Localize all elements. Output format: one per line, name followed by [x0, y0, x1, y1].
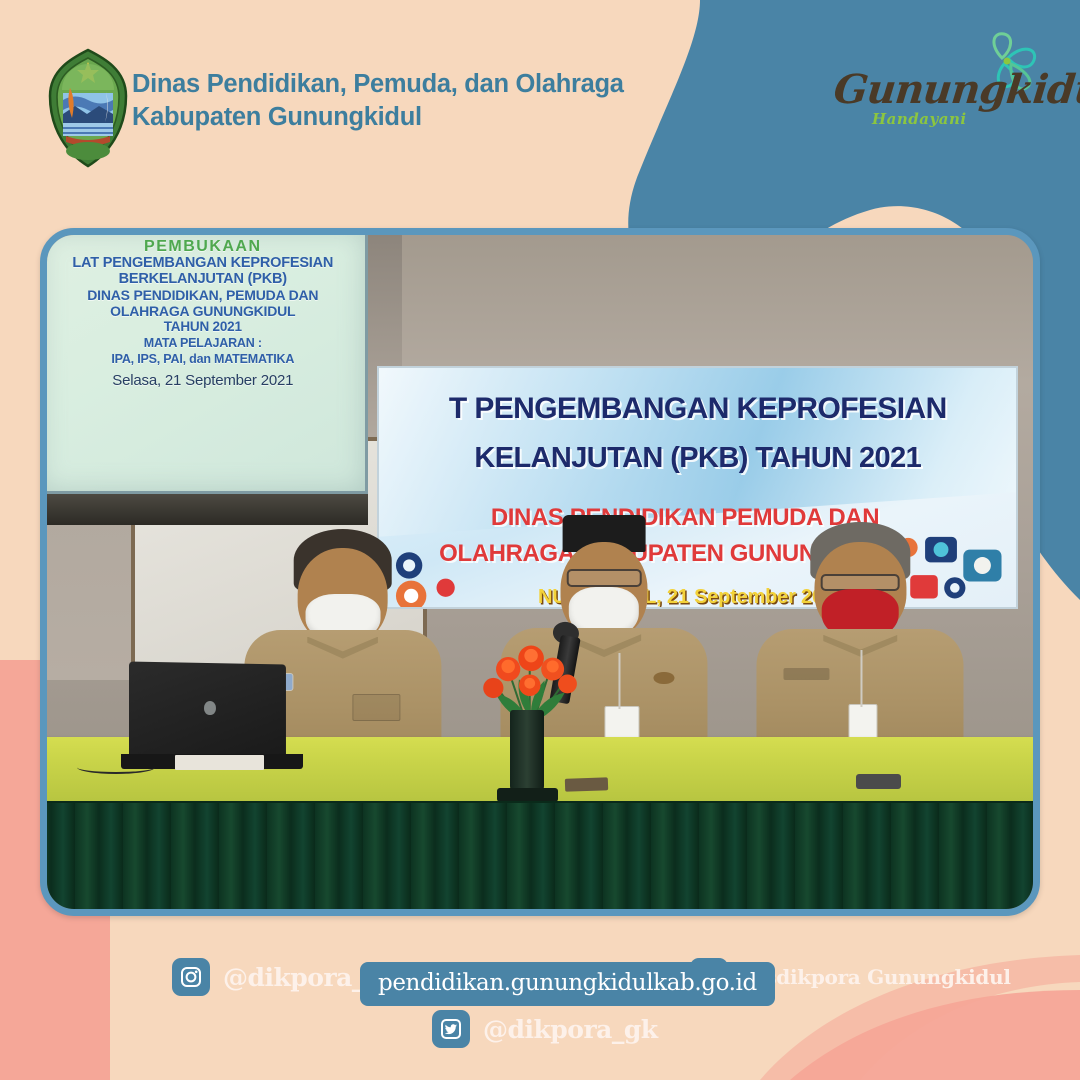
brand-tagline: Handayani	[872, 110, 967, 128]
banner-line-2: KELANJUTAN (PKB) TAHUN 2021	[377, 442, 1018, 475]
slide-line-4: DINAS PENDIDIKAN, PEMUDA DAN	[40, 287, 365, 303]
gunungkidul-regency-crest-icon	[46, 48, 130, 168]
slide-line-7: MATA PELAJARAN :	[40, 335, 365, 351]
projection-screen-base	[40, 494, 368, 524]
person-center-emblem	[654, 672, 675, 685]
poster-canvas: Dinas Pendidikan, Pemuda, dan Olahraga K…	[0, 0, 1080, 1080]
slide-line-6: TAHUN 2021	[40, 319, 365, 335]
poster-header: Dinas Pendidikan, Pemuda, dan Olahraga K…	[0, 0, 1080, 200]
person-left-pocket	[353, 694, 400, 721]
gunungkidul-brand-logo: Gunungkidul Handayani	[824, 28, 1054, 138]
laptop-logo-icon	[204, 701, 216, 715]
smartphone-center	[564, 777, 608, 791]
twitter-entry[interactable]: @dikpora_gk	[432, 1010, 658, 1048]
twitter-icon[interactable]	[432, 1010, 470, 1048]
person-right-id-card	[848, 704, 877, 740]
laptop-icon	[129, 661, 286, 758]
slide-line-8: IPA, IPS, PAI, dan MATEMATIKA	[40, 351, 365, 367]
website-url-badge[interactable]: pendidikan.gunungkidulkab.go.id	[360, 962, 775, 1006]
person-center-glasses	[567, 569, 642, 588]
page-title: Dinas Pendidikan, Pemuda, dan Olahraga K…	[132, 68, 624, 134]
projection-screen: PEMBUKAAN LAT PENGEMBANGAN KEPROFESIAN B…	[40, 228, 368, 494]
brand-wordmark: Gunungkidul	[832, 66, 1080, 113]
slide-line-9: Selasa, 21 September 2021	[40, 373, 365, 389]
instagram-icon[interactable]	[172, 958, 210, 996]
facebook-page-name: Disdikpora Gunungkidul	[741, 965, 1011, 989]
table-skirt	[40, 803, 1040, 914]
person-right-name-tag	[784, 668, 830, 680]
slide-line-3: BERKELANJUTAN (PKB)	[40, 271, 365, 287]
smartphone-right	[856, 774, 901, 789]
event-photo: PEMBUKAAN LAT PENGEMBANGAN KEPROFESIAN B…	[40, 228, 1040, 916]
twitter-handle: @dikpora_gk	[483, 1015, 658, 1044]
vase-body	[510, 710, 544, 794]
person-left-collar	[307, 637, 378, 661]
slide-line-1: PEMBUKAAN	[40, 239, 365, 255]
slide-line-2: LAT PENGEMBANGAN KEPROFESIAN	[40, 255, 365, 271]
person-right-lanyard	[860, 650, 862, 707]
slide-line-5: OLAHRAGA GUNUNGKIDUL	[40, 303, 365, 319]
banner-line-1: T PENGEMBANGAN KEPROFESIAN	[377, 392, 1018, 426]
papers-on-table	[175, 755, 264, 770]
